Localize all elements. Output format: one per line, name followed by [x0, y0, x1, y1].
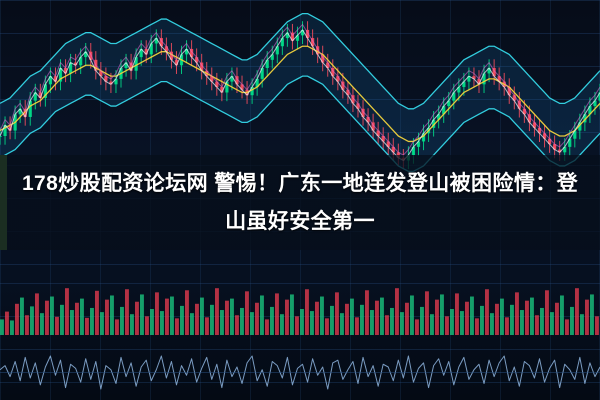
headline-text: 178炒股配资论坛网 警惕！广东一地连发登山被困险情：登山虽好安全第一 — [15, 165, 585, 241]
chart-canvas: 178炒股配资论坛网 警惕！广东一地连发登山被困险情：登山虽好安全第一 — [0, 0, 600, 400]
headline-overlay: 178炒股配资论坛网 警惕！广东一地连发登山被困险情：登山虽好安全第一 — [0, 155, 600, 250]
